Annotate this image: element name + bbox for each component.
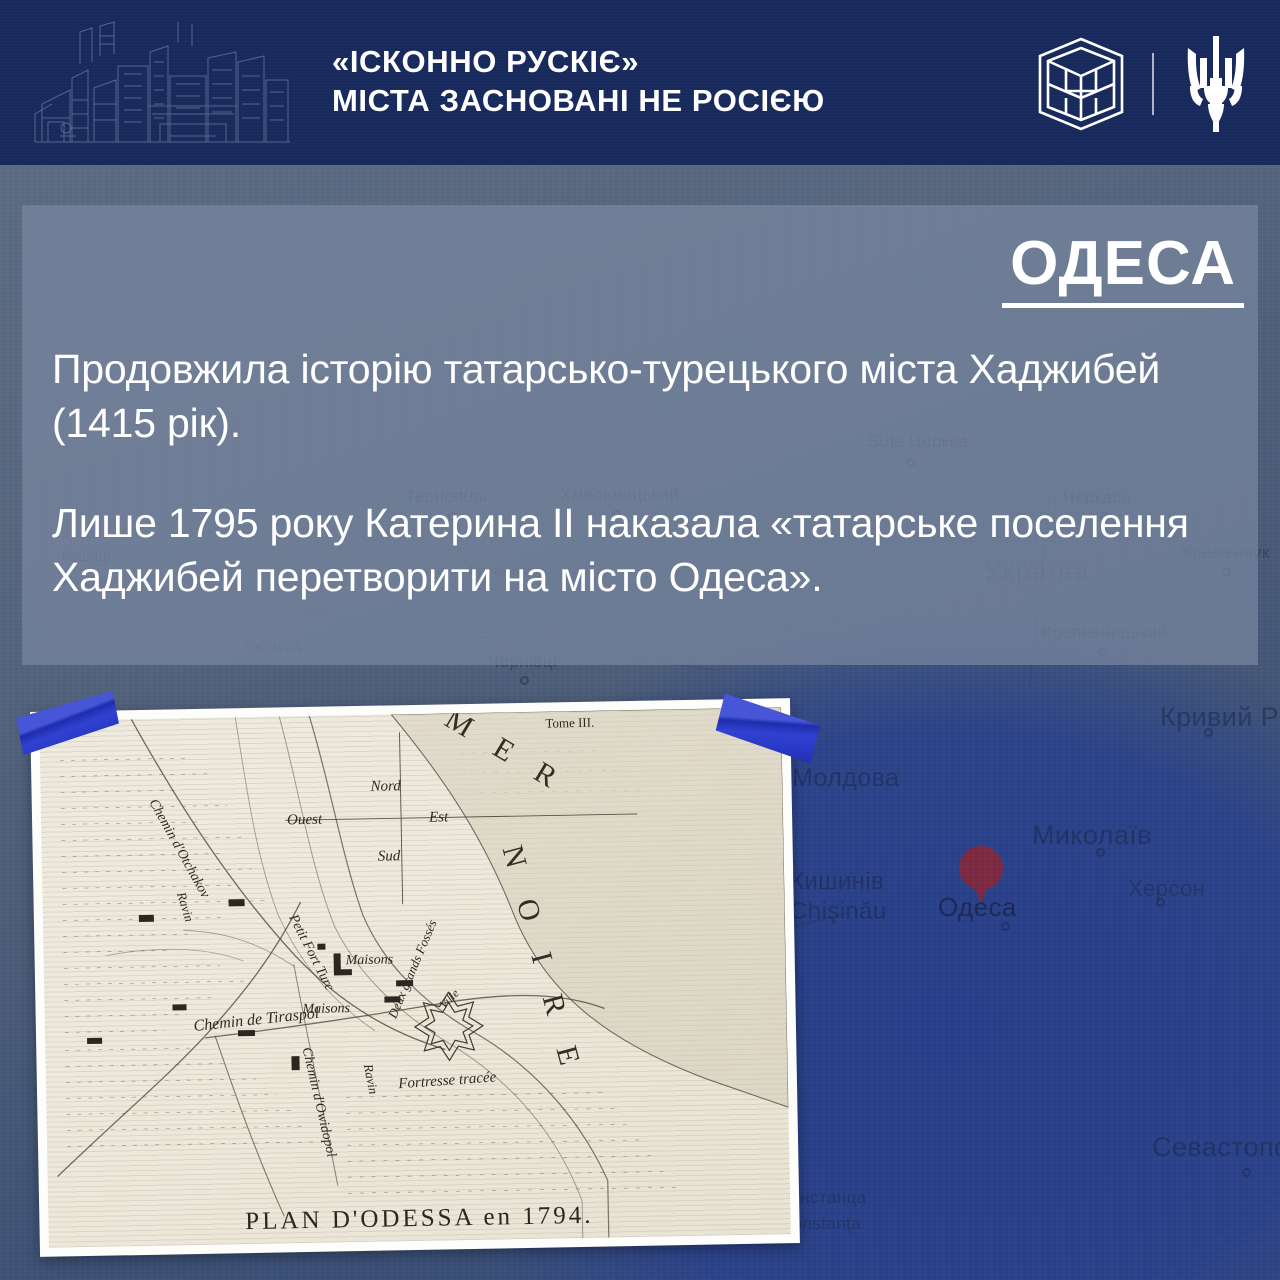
historic-map-compass-east: Est [429, 809, 448, 826]
map-pin-tip [970, 874, 992, 904]
map-label-kryvyi-rih: Кривий Ріг [1160, 702, 1280, 733]
map-city-dot [1096, 848, 1105, 857]
historic-map-compass-north: Nord [370, 778, 401, 796]
map-label-moldova: Молдова [792, 764, 899, 793]
page-header: «ІСКОННО РУСКІЄ» МІСТА ЗАСНОВАНІ НЕ РОСІ… [0, 0, 1280, 165]
city-skyline-sketch [30, 18, 295, 148]
map-label-kherson: Херсон [1128, 876, 1205, 902]
paragraph-2: Лише 1795 року Катерина II наказала «тат… [52, 496, 1244, 604]
city-description: Продовжила історію татарсько-турецького … [36, 342, 1244, 604]
header-title-line1: «ІСКОННО РУСКІЄ» [332, 44, 639, 79]
map-label-chisinau-ro: Chişinău [790, 898, 887, 926]
paragraph-1: Продовжила історію татарсько-турецького … [52, 342, 1244, 450]
historic-map-building [172, 1004, 186, 1010]
historic-map-photo[interactable]: M E R N O I R E Nord Ouest Est Sud Tome … [30, 698, 800, 1257]
map-pin-odesa[interactable] [959, 846, 1003, 904]
map-city-dot [1001, 922, 1010, 931]
city-title: ОДЕСА [1002, 229, 1244, 308]
header-logos [1036, 34, 1252, 134]
historic-map-building [229, 899, 245, 906]
page-title: «ІСКОННО РУСКІЄ» МІСТА ЗАСНОВАНІ НЕ РОСІ… [332, 42, 825, 120]
map-pin-head [959, 846, 1003, 890]
historic-map-building [139, 915, 154, 922]
historic-map-engraving: M E R N O I R E Nord Ouest Est Sud Tome … [39, 707, 791, 1248]
historic-map-building [317, 944, 325, 950]
map-label-mykolaiv: Миколаїв [1032, 820, 1152, 851]
map-label-odesa: Одеса [938, 892, 1017, 923]
map-label-chisinau-uk: Кишинів [790, 868, 884, 896]
historic-map-building [334, 953, 341, 970]
historic-map-building [87, 1038, 102, 1044]
historic-map-building [334, 969, 352, 975]
historic-map-compass-south: Sud [378, 848, 401, 865]
map-label-sevastopol: Севастополь [1152, 1132, 1280, 1163]
historic-map-top-note: Tome III. [545, 715, 594, 732]
historic-map-building [291, 1056, 299, 1070]
map-city-dot [1242, 1168, 1251, 1177]
content-panel: ОДЕСА Продовжила історію татарсько-турец… [22, 205, 1258, 665]
ukrainian-trident-logo[interactable] [1180, 34, 1252, 134]
map-city-dot [520, 676, 529, 685]
historic-map-label-maisons-1: Maisons [346, 952, 394, 969]
ucf-cube-logo[interactable] [1036, 36, 1126, 132]
header-title-line2: МІСТА ЗАСНОВАНІ НЕ РОСІЄЮ [332, 81, 825, 120]
logo-divider [1152, 53, 1154, 115]
map-city-dot [1204, 728, 1213, 737]
historic-map-compass-west: Ouest [287, 812, 322, 830]
paragraph-gap [52, 450, 1244, 496]
map-city-dot [1156, 898, 1165, 907]
